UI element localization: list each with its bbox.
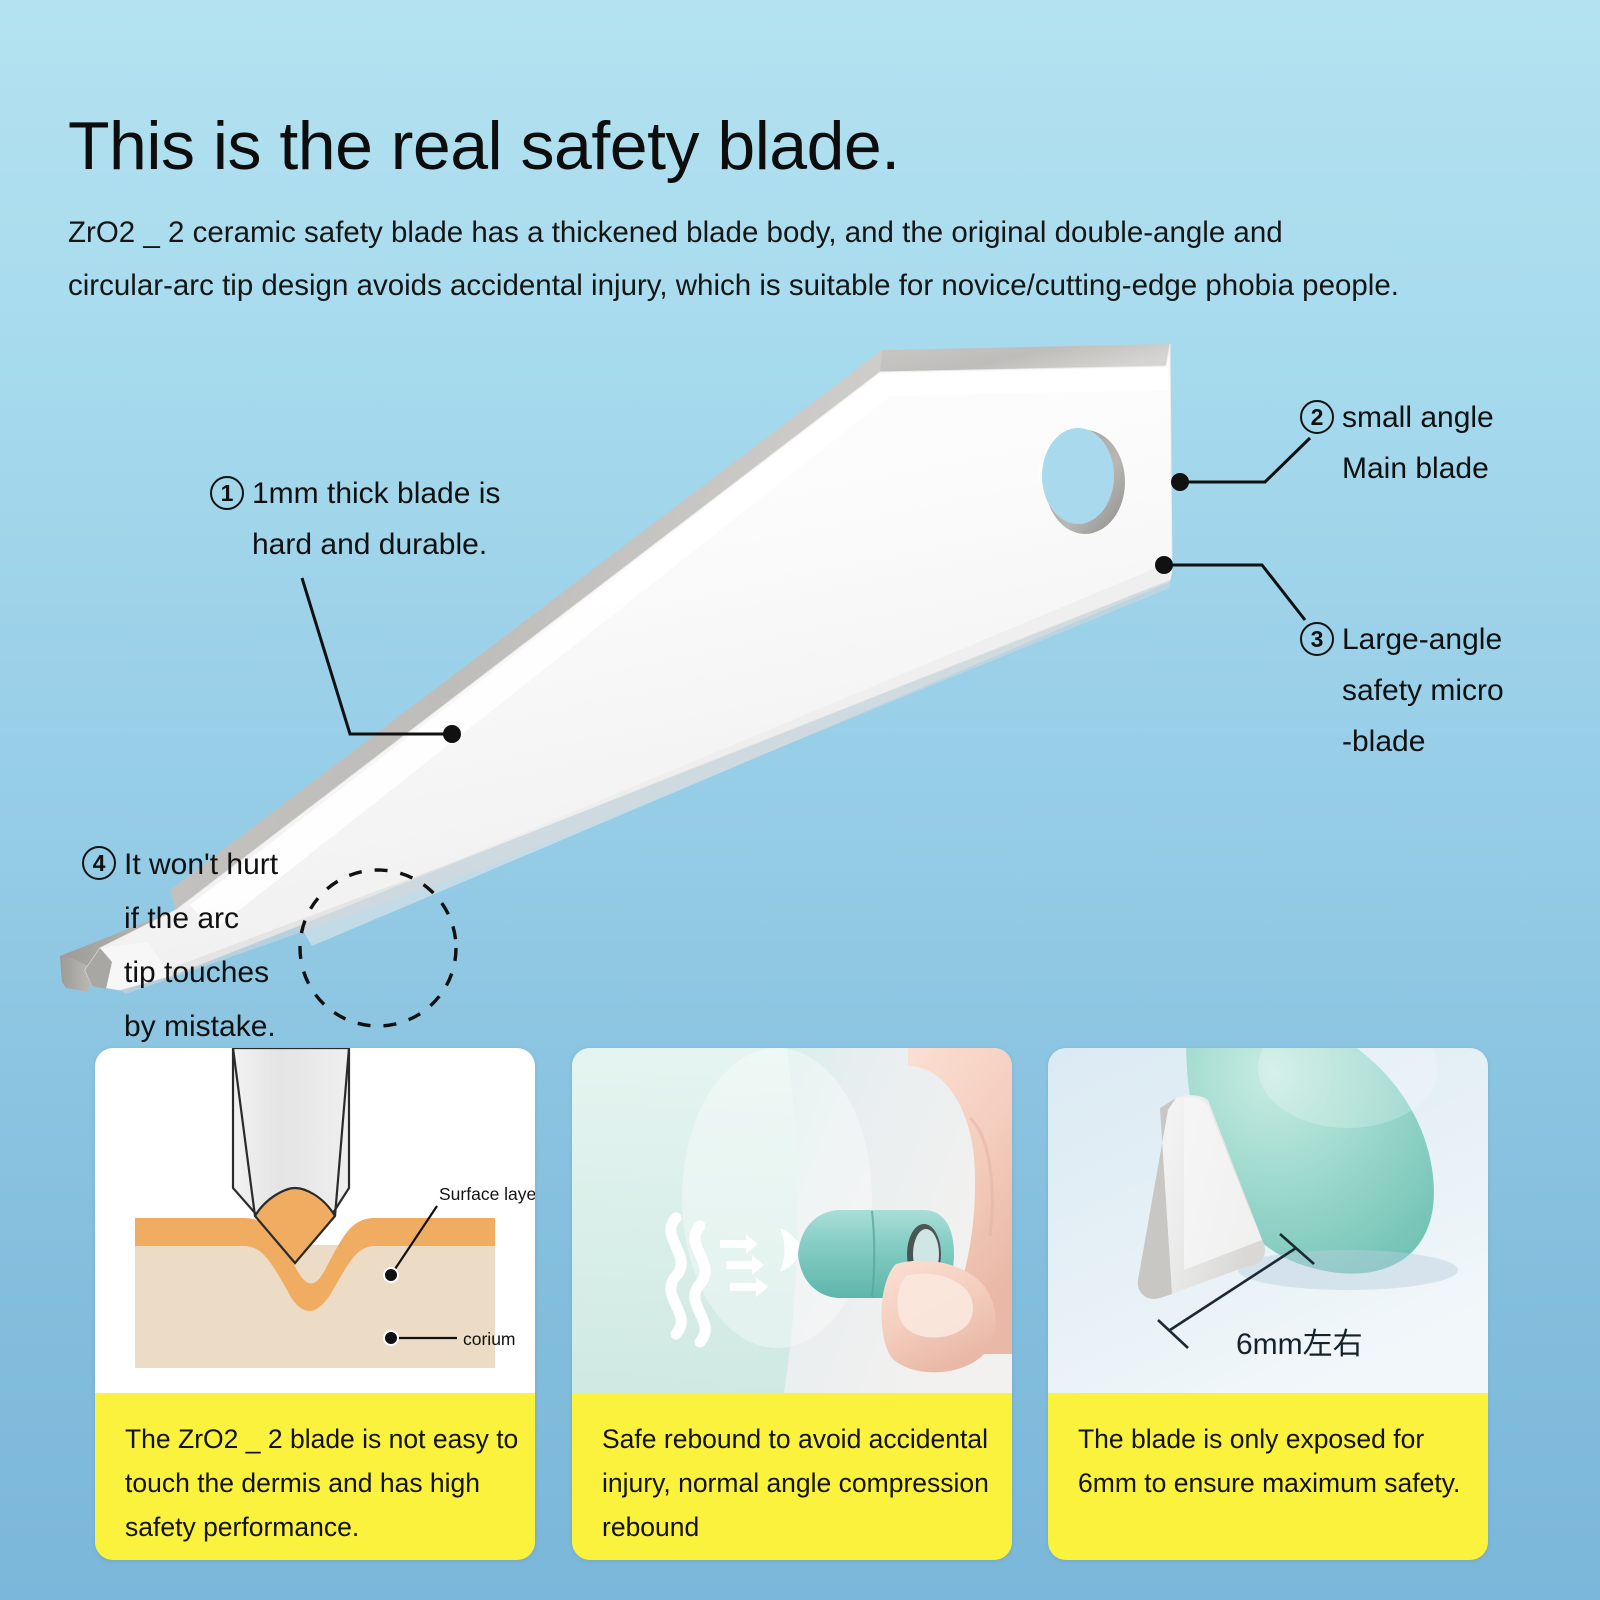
panel-1-caption-line-1: The ZrO2 _ 2 blade is not easy to [125,1417,509,1461]
leader-line-2 [1180,438,1310,482]
callout-4-line-4: by mistake. [82,1000,278,1054]
leader-line-3 [1164,565,1305,620]
callout-4-line-1: 4 It won't hurt [82,838,278,892]
panel-3-caption-line-2: 6mm to ensure maximum safety. [1078,1461,1462,1505]
callout-1-text-1: 1mm thick blade is [252,468,500,519]
page-title: This is the real safety blade. [68,112,1548,180]
callout-4-text-1: It won't hurt [124,838,278,892]
panel-3-caption-line-1: The blade is only exposed for [1078,1417,1462,1461]
panel-2-figure [572,1048,1012,1393]
panel-2-caption-line-3: rebound [602,1505,986,1549]
callout-3: 3 Large-angle safety micro -blade [1300,614,1504,767]
callout-1-line-2: hard and durable. [210,519,500,570]
corium-label-dot [384,1331,398,1345]
callout-1-text-2: hard and durable. [252,519,487,570]
safe-rebound-photo-svg [572,1048,1012,1393]
callout-number-1: 1 [210,476,244,510]
callout-4: 4 It won't hurt if the arc tip touches b… [82,838,278,1054]
callout-2: 2 small angle Main blade [1300,392,1494,494]
header: This is the real safety blade. ZrO2 _ 2 … [68,112,1548,300]
callout-1: 1 1mm thick blade is hard and durable. [210,468,500,570]
panel-2-caption: Safe rebound to avoid accidental injury,… [572,1393,1012,1560]
callout-4-line-3: tip touches [82,946,278,1000]
panel-blade-exposure: 6mm左右 The blade is only exposed for 6mm … [1048,1048,1488,1560]
panel-2-caption-line-1: Safe rebound to avoid accidental [602,1417,986,1461]
panel-safe-rebound: Safe rebound to avoid accidental injury,… [572,1048,1012,1560]
subtitle-line-1: ZrO2 _ 2 ceramic safety blade has a thic… [68,218,1548,248]
panel-1-caption: The ZrO2 _ 2 blade is not easy to touch … [95,1393,535,1560]
leader-dot-1 [443,725,461,743]
subtitle-line-2: circular-arc tip design avoids accidenta… [68,271,1548,301]
corium-label-text: corium [463,1329,516,1349]
panel-1-caption-line-3: safety performance. [125,1505,509,1549]
callout-3-text-2: safety micro [1342,665,1504,716]
skin-label-dot [384,1268,398,1282]
dimension-label: 6mm左右 [1236,1328,1363,1361]
feature-panels: Surface layer of skin corium The ZrO2 _ … [0,1048,1600,1600]
callout-4-line-2: if the arc [82,892,278,946]
skin-label-text: Surface layer of skin [439,1184,535,1204]
callout-3-text-3: -blade [1342,716,1425,767]
leader-dot-3 [1155,556,1173,574]
callout-4-text-3: tip touches [124,946,269,1000]
callout-2-line-2: Main blade [1300,443,1494,494]
callout-number-4: 4 [82,846,116,880]
panel-skin-cross-section: Surface layer of skin corium The ZrO2 _ … [95,1048,535,1560]
callout-3-line-1: 3 Large-angle [1300,614,1504,665]
callout-2-text-2: Main blade [1342,443,1489,494]
callout-2-line-1: 2 small angle [1300,392,1494,443]
callout-4-text-4: by mistake. [124,1000,276,1054]
callout-number-2: 2 [1300,400,1334,434]
callout-2-text-1: small angle [1342,392,1494,443]
skin-cross-section-svg: Surface layer of skin corium [95,1048,535,1393]
callout-1-line-1: 1 1mm thick blade is [210,468,500,519]
panel-3-caption: The blade is only exposed for 6mm to ens… [1048,1393,1488,1560]
panel-1-caption-line-2: touch the dermis and has high [125,1461,509,1505]
callout-3-line-3: -blade [1300,716,1504,767]
callout-3-text-1: Large-angle [1342,614,1502,665]
callout-3-line-2: safety micro [1300,665,1504,716]
callout-number-3: 3 [1300,622,1334,656]
callout-4-text-2: if the arc [124,892,239,946]
blade-exposure-svg: 6mm左右 [1048,1048,1488,1393]
panel-1-figure: Surface layer of skin corium [95,1048,535,1393]
panel-2-caption-line-2: injury, normal angle compression [602,1461,986,1505]
panel-3-figure: 6mm左右 [1048,1048,1488,1393]
leader-dot-2 [1171,473,1189,491]
